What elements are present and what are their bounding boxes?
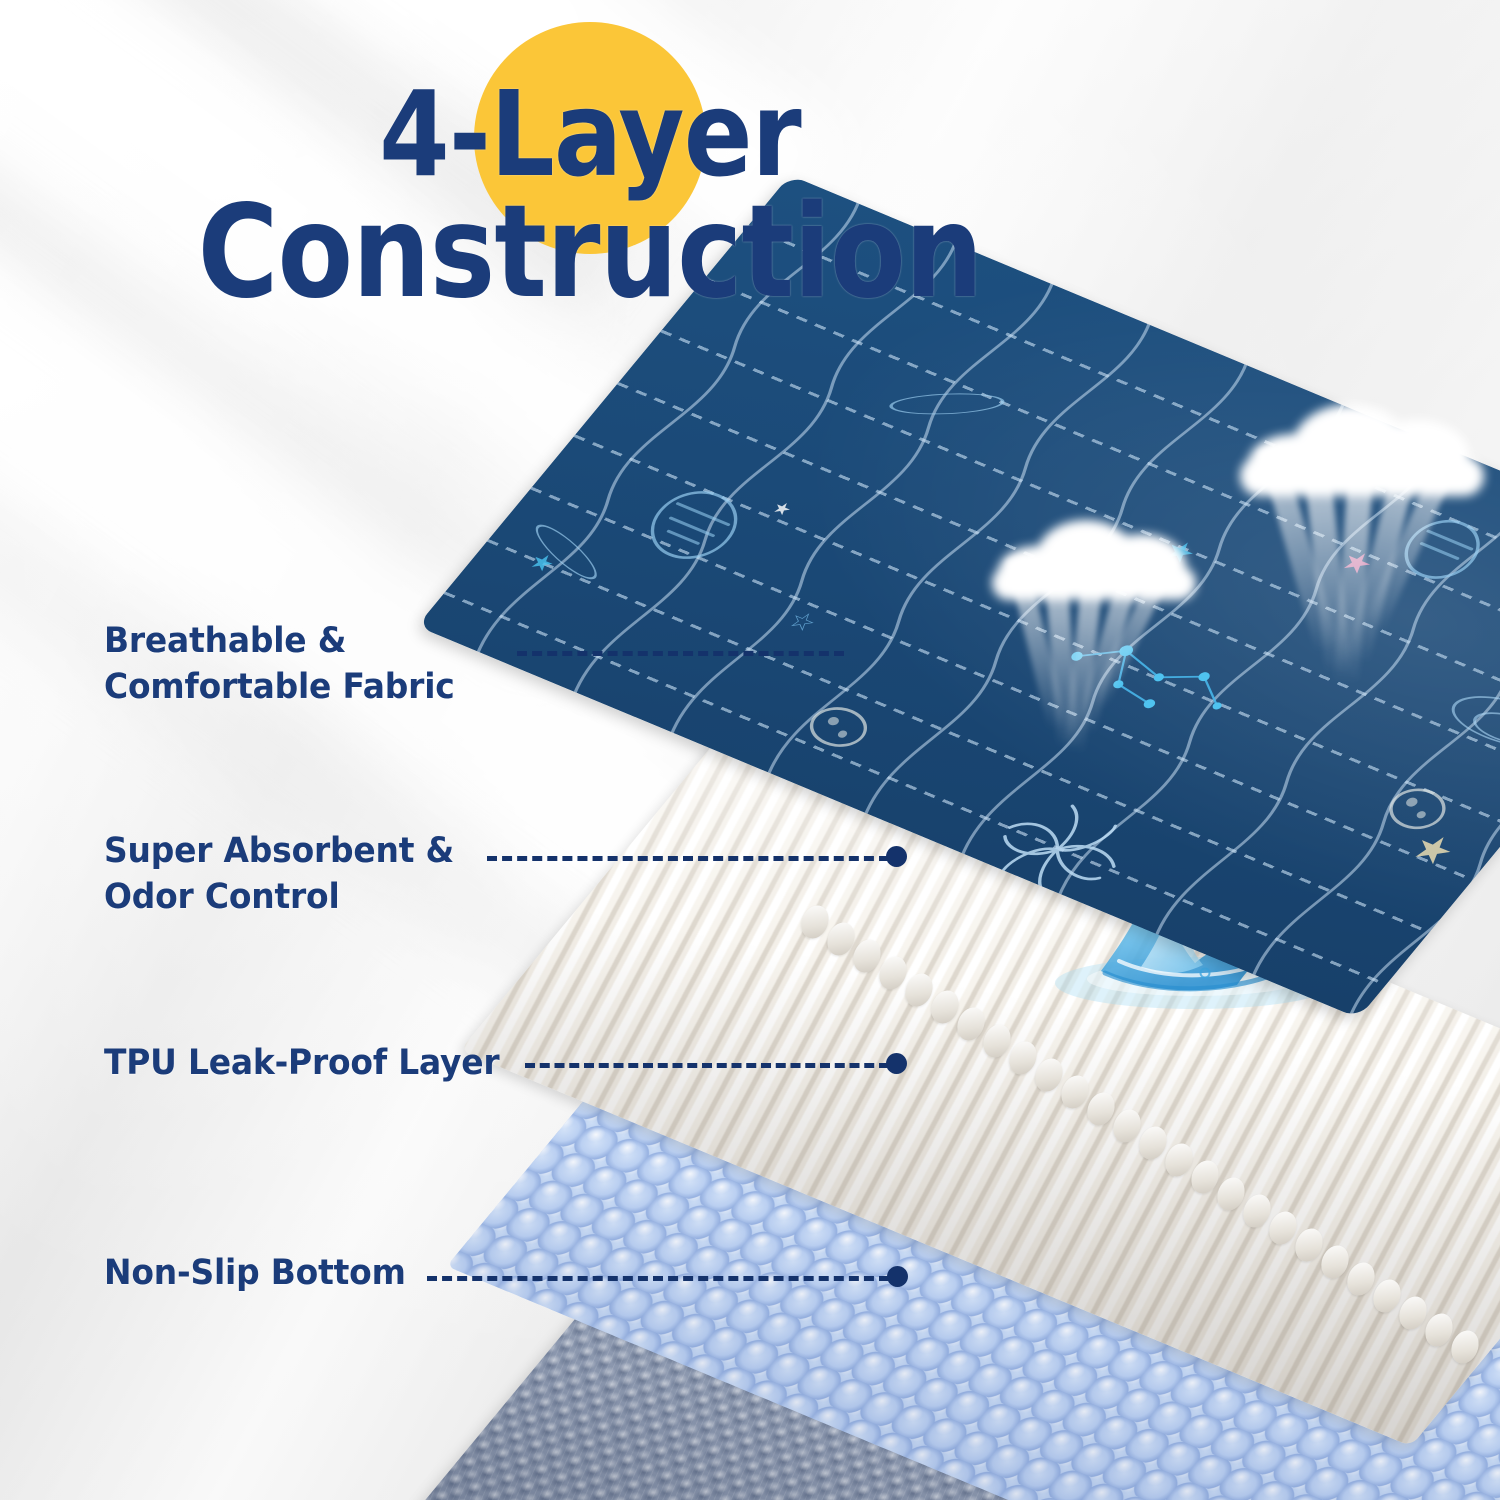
- leader-dot-absorbent: [886, 846, 907, 867]
- leader-line-nonslip: [427, 1276, 889, 1281]
- cloud-icon: [992, 516, 1200, 598]
- label-tpu-leak-proof-layer: TPU Leak-Proof Layer: [104, 1040, 499, 1086]
- leader-line-tpu: [525, 1063, 889, 1068]
- leader-dot-tpu: [886, 1053, 907, 1074]
- leader-line-fabric: [517, 651, 844, 656]
- page-title: 4-Layer Construction: [83, 74, 1098, 319]
- leader-line-absorbent: [487, 856, 889, 861]
- fiber-end: [1447, 1326, 1484, 1367]
- infographic-canvas: ★ ★ ★ ☆ ★ ★: [0, 0, 1500, 1500]
- label-super-absorbent-odor-control: Super Absorbent & Odor Control: [104, 828, 454, 920]
- title-line-2: Construction: [83, 188, 1098, 319]
- label-non-slip-bottom: Non-Slip Bottom: [104, 1250, 406, 1296]
- cloud-icon: [1240, 398, 1490, 494]
- label-breathable-comfortable-fabric: Breathable & Comfortable Fabric: [104, 618, 455, 710]
- leader-dot-nonslip: [887, 1266, 908, 1287]
